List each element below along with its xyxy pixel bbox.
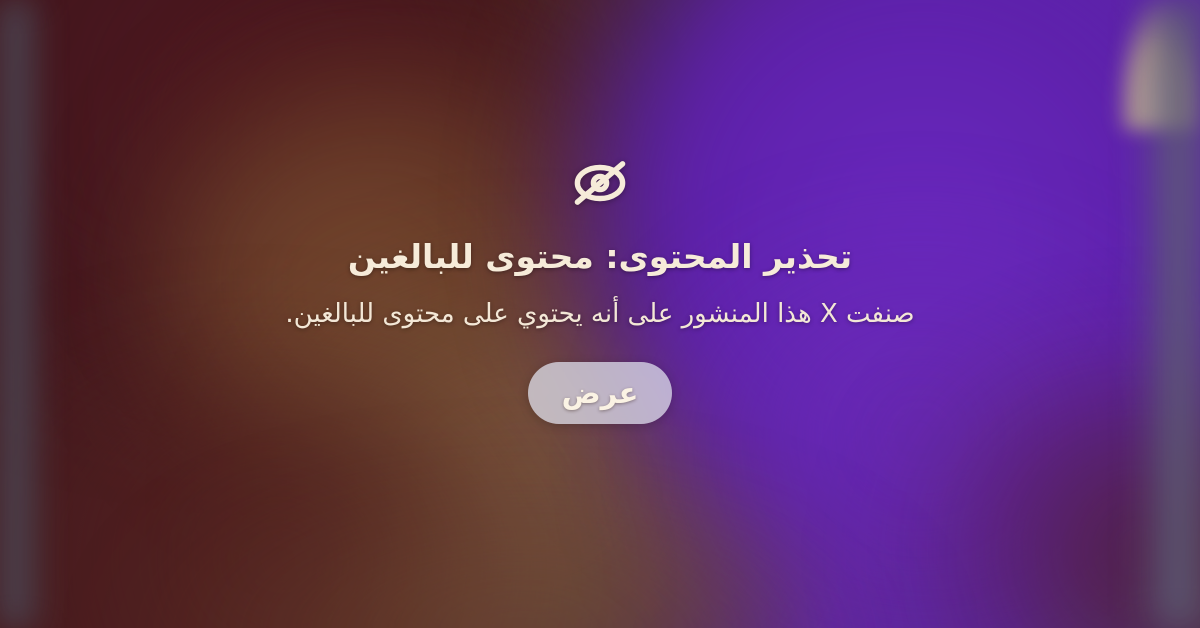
- content-warning-screen: تحذير المحتوى: محتوى للبالغين صنفت X هذا…: [0, 0, 1200, 628]
- view-button[interactable]: عرض: [528, 362, 673, 424]
- content-warning-overlay: تحذير المحتوى: محتوى للبالغين صنفت X هذا…: [0, 0, 1200, 628]
- warning-description: صنفت X هذا المنشور على أنه يحتوي على محت…: [285, 297, 914, 332]
- page-title: تحذير المحتوى: محتوى للبالغين: [348, 236, 852, 279]
- eye-off-icon: [569, 152, 631, 214]
